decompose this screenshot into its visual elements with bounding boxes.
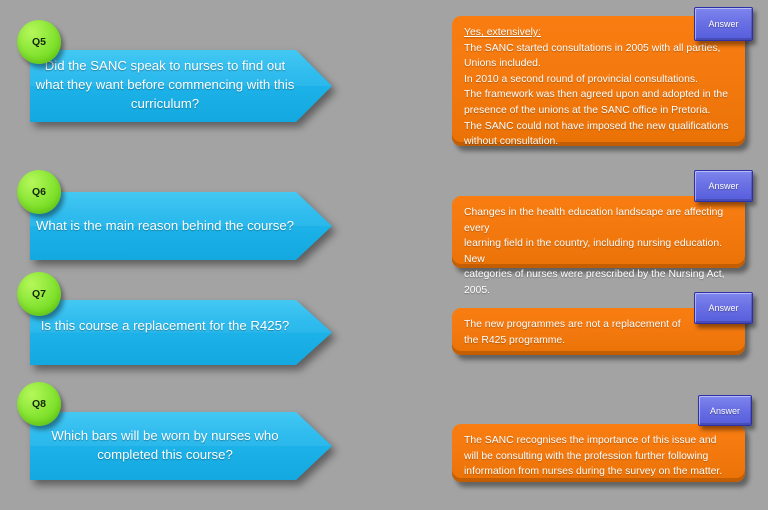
answer-button-q6[interactable]: Answer <box>694 170 753 202</box>
answer-line: The SANC recognises the importance of th… <box>464 433 733 449</box>
question-badge-label: Q6 <box>32 186 46 198</box>
answer-box-q6: Changes in the health education landscap… <box>452 196 745 268</box>
question-badge-q5: Q5 <box>17 20 61 64</box>
answer-button-label: Answer <box>708 303 738 313</box>
answer-line: Changes in the health education landscap… <box>464 205 733 236</box>
answer-lead-text: Yes, extensively: <box>464 25 733 41</box>
question-badge-label: Q7 <box>32 288 46 300</box>
answer-line: The SANC started consultations in 2005 w… <box>464 41 733 57</box>
answer-button-label: Answer <box>708 19 738 29</box>
answer-button-label: Answer <box>710 406 740 416</box>
answer-line: In 2010 a second round of provincial con… <box>464 72 733 88</box>
answer-box-q8: The SANC recognises the importance of th… <box>452 424 745 482</box>
answer-line: learning field in the country, including… <box>464 236 733 267</box>
answer-line: the R425 programme. <box>464 333 733 349</box>
question-badge-label: Q8 <box>32 398 46 410</box>
answer-line: 2005. <box>464 283 733 299</box>
answer-line: The framework was then agreed upon and a… <box>464 87 733 103</box>
answer-line: will be consulting with the profession f… <box>464 449 733 465</box>
answer-line: information from nurses during the surve… <box>464 464 733 480</box>
answer-button-q8[interactable]: Answer <box>698 395 752 426</box>
answer-line: The SANC could not have imposed the new … <box>464 119 733 135</box>
answer-line: Unions included. <box>464 56 733 72</box>
slide-canvas: Q5 Did the SANC speak to nurses to find … <box>0 0 768 510</box>
answer-button-label: Answer <box>708 181 738 191</box>
answer-line: The new programmes are not a replacement… <box>464 317 733 333</box>
question-badge-q8: Q8 <box>17 382 61 426</box>
question-badge-label: Q5 <box>32 36 46 48</box>
answer-button-q5[interactable]: Answer <box>694 7 753 41</box>
question-arrow-q8[interactable] <box>30 412 332 480</box>
question-arrow-q7[interactable] <box>30 300 332 365</box>
question-arrow-q5[interactable] <box>30 50 332 122</box>
question-badge-q7: Q7 <box>17 272 61 316</box>
answer-line: without consultation. <box>464 134 733 150</box>
question-arrow-q6[interactable] <box>30 192 332 260</box>
question-badge-q6: Q6 <box>17 170 61 214</box>
answer-button-q7[interactable]: Answer <box>694 292 753 324</box>
answer-line: categories of nurses were prescribed by … <box>464 267 733 283</box>
answer-line: presence of the unions at the SANC offic… <box>464 103 733 119</box>
